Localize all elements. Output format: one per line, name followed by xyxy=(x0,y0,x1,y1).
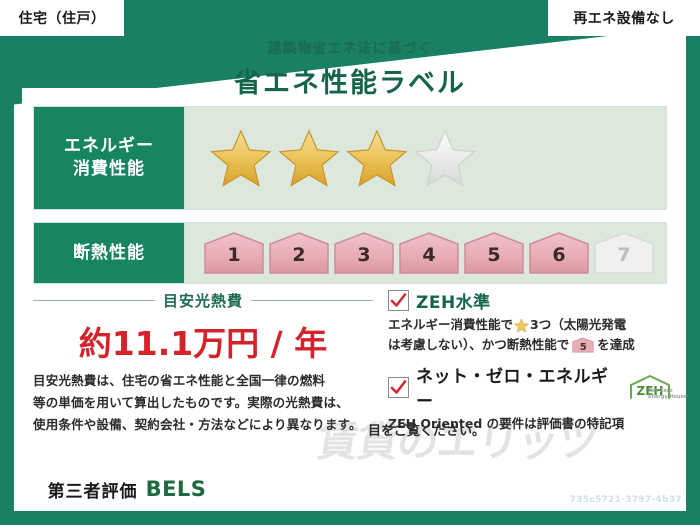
energy-label-line1: エネルギー xyxy=(64,135,154,158)
utility-cost-heading-text: 目安光熱費 xyxy=(163,290,243,311)
utility-cost-disclaimer: 目安光熱費は、住宅の省エネ性能と全国一律の燃料 等の単価を用いて算出したものです… xyxy=(33,370,378,436)
insulation-grade-scale: 1 2 3 4 xyxy=(185,231,655,275)
bels-certification-tag: 第三者評価 BELS xyxy=(22,472,232,506)
title-subtitle: 建築物省エネ法に基づく xyxy=(0,38,700,58)
grade-house-3: 3 xyxy=(333,231,395,275)
building-type-tag: 住宅（住戸） xyxy=(0,0,124,36)
energy-performance-label: エネルギー 消費性能 xyxy=(33,106,185,210)
zeh-standard-item: ZEH水準 エネルギー消費性能で 3つ（太陽光発電 は考慮しない）、かつ断熱性能… xyxy=(388,288,673,355)
grade-house-2: 2 xyxy=(268,231,330,275)
star-inline-icon xyxy=(514,318,529,333)
energy-performance-row: エネルギー 消費性能 xyxy=(33,106,667,210)
disclaimer-line-3: 使用条件や設備、契約会社・方法などにより異なります。 xyxy=(33,414,378,436)
rule-right xyxy=(251,300,373,301)
zeh-standard-title: ZEH水準 xyxy=(416,288,491,313)
net-zero-body-line-2: 目をご覧ください。 xyxy=(368,420,485,439)
net-zero-energy-head: ネット・ゼロ・エネルギー ZEH Net ZeroEnergy House xyxy=(388,362,673,412)
net-zero-energy-title: ネット・ゼロ・エネルギー xyxy=(416,362,617,412)
star-empty-icon xyxy=(414,128,476,188)
grade-badge-inline-icon: 5 xyxy=(572,337,594,353)
bels-jp-label: 第三者評価 xyxy=(48,477,138,502)
checkbox-checked-icon xyxy=(388,290,409,311)
checkbox-checked-icon xyxy=(388,377,409,398)
grade-house-4: 4 xyxy=(398,231,460,275)
star-filled-icon xyxy=(278,128,340,188)
bels-en-label: BELS xyxy=(146,477,207,501)
grade-house-6: 6 xyxy=(528,231,590,275)
star-rating xyxy=(185,128,476,188)
insulation-performance-value: 1 2 3 4 xyxy=(185,222,667,284)
zeh-body-text-d: を達成 xyxy=(597,335,635,355)
energy-label-line2: 消費性能 xyxy=(73,158,145,181)
star-filled-icon xyxy=(346,128,408,188)
zeh-standard-body-line-1: エネルギー消費性能で 3つ（太陽光発電 xyxy=(388,315,673,335)
insulation-performance-row: 断熱性能 1 2 xyxy=(33,222,667,284)
zeh-standard-body: エネルギー消費性能で 3つ（太陽光発電 は考慮しない）、かつ断熱性能で 5 を達… xyxy=(388,315,673,355)
energy-performance-value xyxy=(185,106,667,210)
insulation-performance-label: 断熱性能 xyxy=(33,222,185,284)
title-main: 省エネ性能ラベル xyxy=(0,61,700,100)
grade-number: 6 xyxy=(528,244,590,266)
zeh-body-text-b: 3つ（太陽光発電 xyxy=(530,315,626,335)
grade-number: 4 xyxy=(398,244,460,266)
utility-cost-amount: 約11.1万円 / 年 xyxy=(33,317,373,365)
grade-number: 3 xyxy=(333,244,395,266)
bels-energy-label: 住宅（住戸） 再エネ設備なし 建築物省エネ法に基づく 省エネ性能ラベル エネルギ… xyxy=(0,0,700,525)
zeh-logo-icon: ZEH Net ZeroEnergy House xyxy=(627,374,673,400)
disclaimer-line-1: 目安光熱費は、住宅の省エネ性能と全国一律の燃料 xyxy=(33,370,378,392)
star-filled-icon xyxy=(210,128,272,188)
evaluation-id: 735c5721-3797-4b37 xyxy=(570,495,682,505)
zeh-logo-trademark: Net ZeroEnergy House xyxy=(648,389,687,400)
zeh-standard-head: ZEH水準 xyxy=(388,288,673,313)
utility-cost-block: 目安光熱費 約11.1万円 / 年 xyxy=(33,290,373,365)
bels-number: 0280698-01 101 xyxy=(238,480,361,495)
utility-cost-heading: 目安光熱費 xyxy=(33,290,373,311)
grade-house-7: 7 xyxy=(593,231,655,275)
insulation-label-line1: 断熱性能 xyxy=(73,242,145,265)
renewable-equipment-tag: 再エネ設備なし xyxy=(548,0,700,36)
grade-number: 1 xyxy=(203,244,265,266)
disclaimer-line-2: 等の単価を用いて算出したものです。実際の光熱費は、 xyxy=(33,392,378,414)
zeh-body-text-c: は考慮しない）、かつ断熱性能で xyxy=(388,335,569,355)
grade-number: 7 xyxy=(593,244,655,266)
rule-left xyxy=(33,300,155,301)
zeh-standard-body-line-2: は考慮しない）、かつ断熱性能で 5 を達成 xyxy=(388,335,673,355)
grade-house-5: 5 xyxy=(463,231,525,275)
grade-house-1: 1 xyxy=(203,231,265,275)
label-title: 建築物省エネ法に基づく 省エネ性能ラベル xyxy=(0,38,700,100)
grade-number: 2 xyxy=(268,244,330,266)
zeh-body-text-a: エネルギー消費性能で xyxy=(388,315,513,335)
grade-badge-number: 5 xyxy=(572,340,594,356)
evaluation-date: 評価日 2025年6月30日 xyxy=(518,475,682,495)
zeh-panel: ZEH水準 エネルギー消費性能で 3つ（太陽光発電 は考慮しない）、かつ断熱性能… xyxy=(388,288,673,441)
grade-number: 5 xyxy=(463,244,525,266)
